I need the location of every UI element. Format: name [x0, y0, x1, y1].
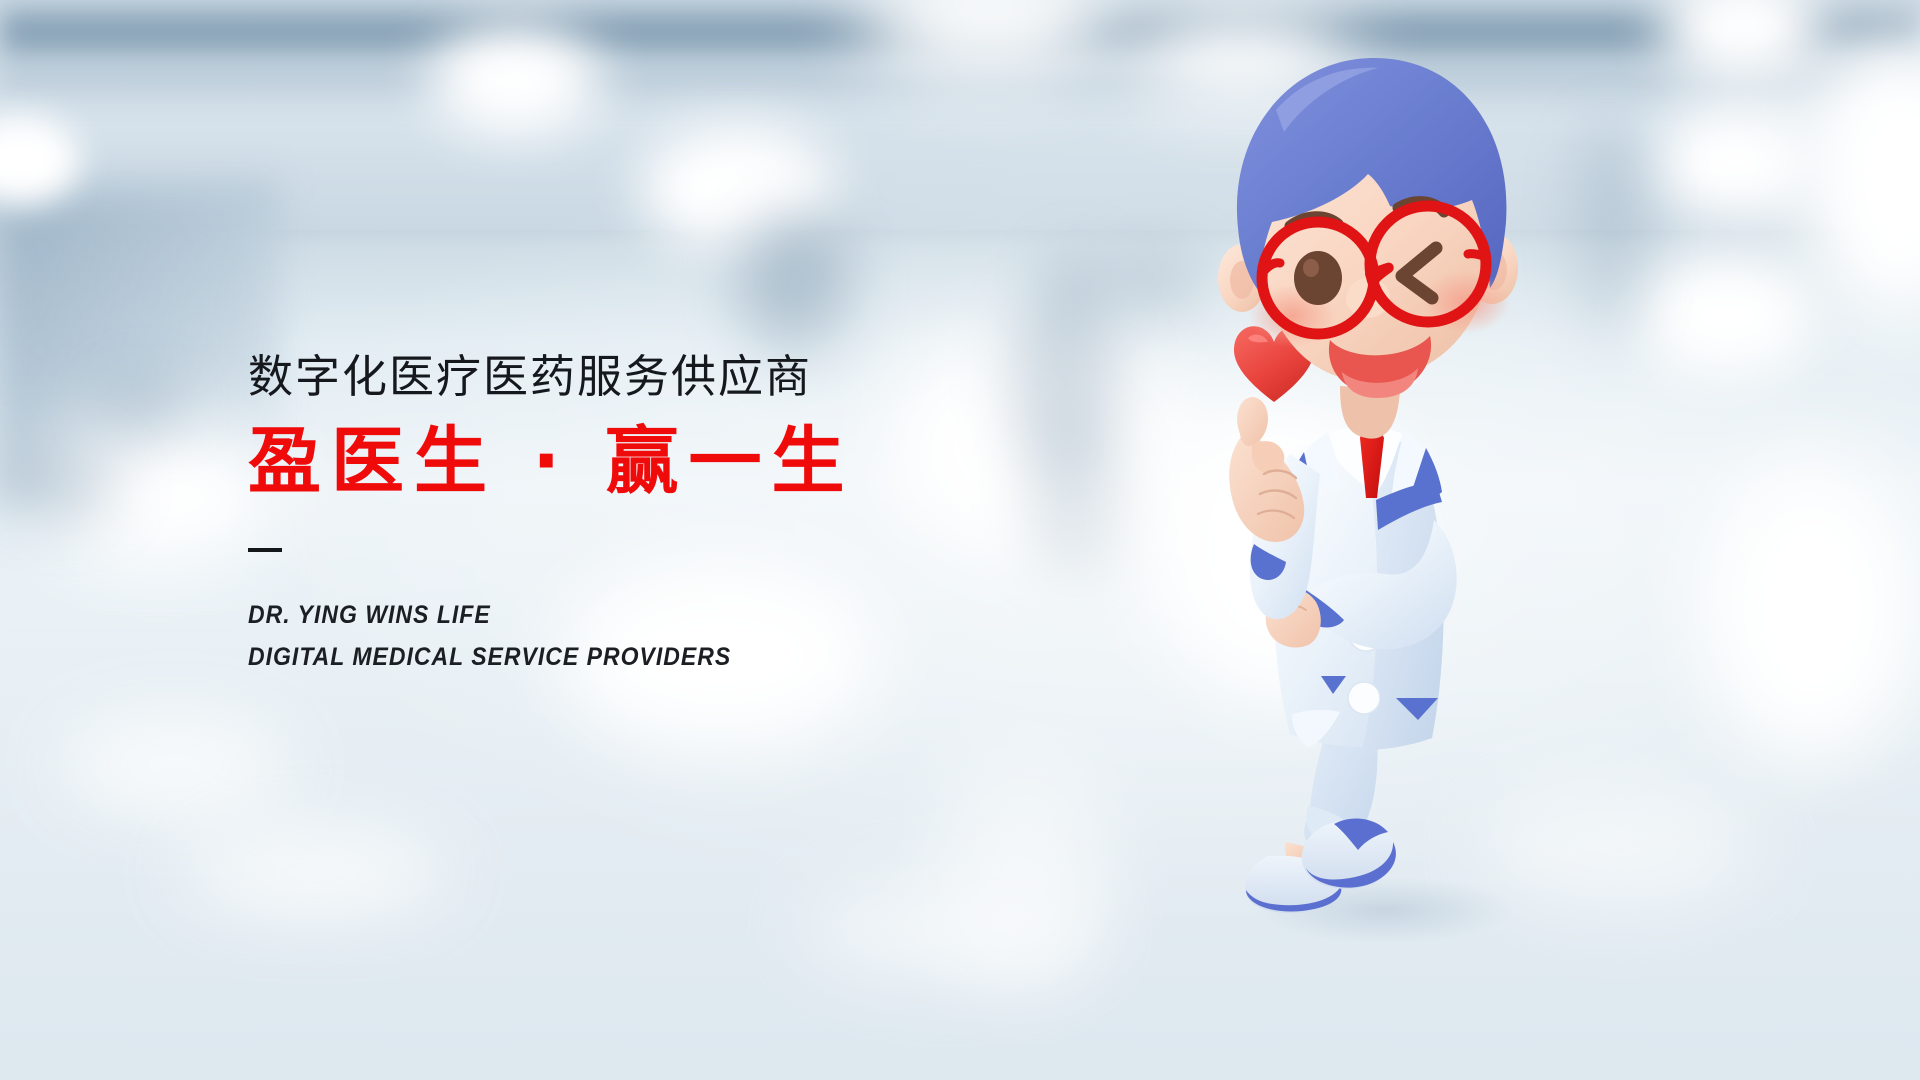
page-title: 盈医生 · 赢一生: [248, 424, 1008, 501]
hero-banner: 数字化医疗医药服务供应商 盈医生 · 赢一生 DR. YING WINS LIF…: [0, 0, 1920, 1080]
mascot-left-arm: [1229, 397, 1320, 619]
subtitle-english: DR. YING WINS LIFE DIGITAL MEDICAL SERVI…: [248, 594, 947, 678]
doctor-mascot: [1180, 50, 1600, 1030]
hero-text-block: 数字化医疗医药服务供应商 盈医生 · 赢一生 DR. YING WINS LIF…: [248, 352, 1008, 678]
mascot-eye-open: [1294, 251, 1342, 305]
subtitle-line-2: DIGITAL MEDICAL SERVICE PROVIDERS: [248, 636, 947, 678]
title-divider: [248, 548, 282, 552]
subtitle-line-1: DR. YING WINS LIFE: [248, 594, 947, 636]
page-headline: 数字化医疗医药服务供应商: [248, 352, 1008, 402]
